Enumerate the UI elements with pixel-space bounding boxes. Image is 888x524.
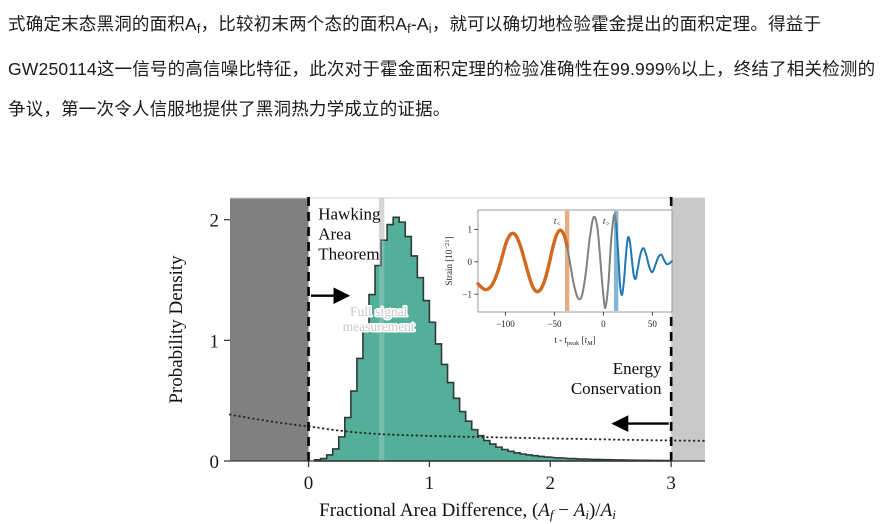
- article-text-run-3: -A: [411, 14, 429, 34]
- full-signal-measurement-label: Full signalmeasurement: [343, 304, 415, 334]
- inset-y-tick-label: 0: [468, 257, 473, 267]
- figure-svg: 0120123Probability DensityFractional Are…: [0, 186, 888, 524]
- article-text-run-2: ，比较初末两个态的面积A: [201, 14, 408, 34]
- x-tick-label: 3: [666, 473, 676, 494]
- inset-x-tick-label: 50: [648, 319, 658, 329]
- x-axis-title: Fractional Area Difference, (Af − Ai)/Ai: [319, 500, 616, 522]
- hawking-violation-region: [230, 198, 309, 461]
- inset-y-tick-label: −1: [462, 289, 472, 299]
- y-axis-title: Probability Density: [166, 255, 187, 404]
- y-tick-label: 0: [210, 452, 220, 473]
- inset-y-tick-label: 1: [468, 225, 473, 235]
- x-tick-label: 1: [425, 473, 435, 494]
- y-tick-label: 2: [210, 211, 220, 232]
- y-tick-label: 1: [210, 331, 220, 352]
- x-tick-label: 0: [304, 473, 314, 494]
- inset-x-tick-label: −100: [496, 319, 515, 329]
- energy-violation-region: [671, 198, 705, 461]
- inset-x-tick-label: −50: [547, 319, 562, 329]
- article-text-run-1: 式确定末态黑洞的面积A: [8, 14, 197, 34]
- figure-posterior-area-difference: 0120123Probability DensityFractional Are…: [0, 186, 888, 524]
- inset-x-tick-label: 0: [601, 319, 606, 329]
- x-tick-label: 2: [546, 473, 556, 494]
- inset-frame: [478, 210, 672, 312]
- article-paragraph: 式确定末态黑洞的面积Af，比较初末两个态的面积Af-Ai，就可以确切地检验霍金提…: [8, 4, 880, 129]
